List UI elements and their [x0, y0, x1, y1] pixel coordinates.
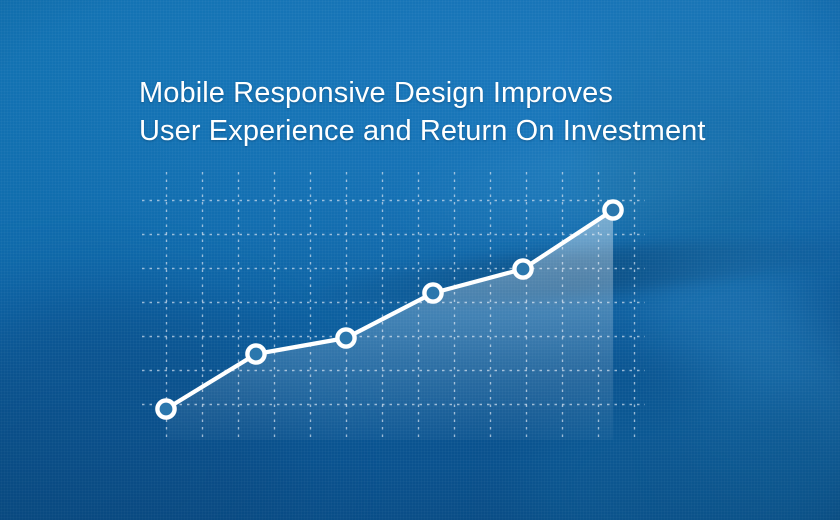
data-point-marker-icon[interactable]	[247, 345, 264, 362]
data-point-marker-icon[interactable]	[424, 284, 441, 301]
banner-graphic: Mobile Responsive Design Improves User E…	[0, 0, 840, 520]
data-point-marker-icon[interactable]	[337, 329, 354, 346]
data-point-marker-icon[interactable]	[514, 260, 531, 277]
data-point-marker-icon[interactable]	[157, 400, 174, 417]
page-title: Mobile Responsive Design Improves User E…	[139, 74, 799, 150]
chart-area-fill	[166, 210, 613, 440]
data-point-marker-icon[interactable]	[604, 201, 621, 218]
